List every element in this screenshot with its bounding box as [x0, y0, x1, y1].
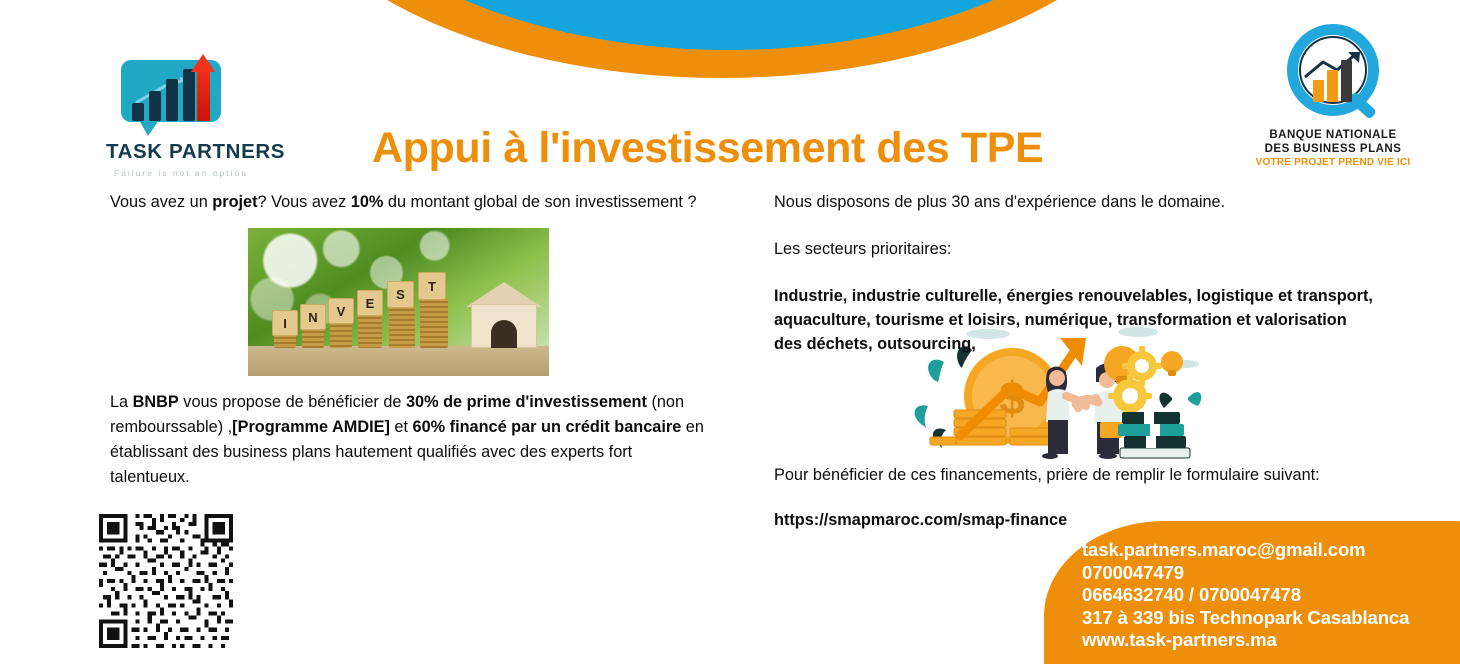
sectors-label: Les secteurs prioritaires: [774, 237, 1374, 262]
right-column: Nous disposons de plus 30 ans d'expérien… [774, 190, 1374, 356]
experience-text: Nous disposons de plus 30 ans d'expérien… [774, 190, 1374, 215]
intro-text-2: ? Vous avez [258, 193, 351, 211]
offer-paragraph-wrap: La BNBP vous propose de bénéficier de 30… [110, 390, 710, 490]
bnbp-line-1: BANQUE NATIONALE [1247, 128, 1419, 142]
qr-code[interactable] [99, 514, 233, 648]
intro-text-1: Vous avez un [110, 193, 212, 211]
flyer-page: TASK PARTNERS Failure is not an option B… [0, 0, 1460, 664]
house-shape [467, 282, 541, 348]
intro-text-3: du montant global de son investissement … [383, 193, 696, 211]
bnbp-logo: BANQUE NATIONALE DES BUSINESS PLANS VOTR… [1247, 24, 1419, 169]
form-url[interactable]: https://smapmaroc.com/smap-finance [774, 508, 1374, 532]
bnbp-line-2: DES BUSINESS PLANS [1247, 142, 1419, 156]
offer-bold-bnbp: BNBP [133, 393, 179, 411]
offer-paragraph: La BNBP vous propose de bénéficier de 30… [110, 390, 710, 490]
offer-text-2: vous propose de bénéficier de [179, 393, 406, 411]
magnifier-bar-chart-icon [1281, 24, 1385, 128]
offer-bold-amdie: [Programme AMDIE] [232, 418, 390, 436]
task-partners-tagline: Failure is not an option [106, 168, 256, 178]
contact-email[interactable]: task.partners.maroc@gmail.com [1082, 539, 1409, 562]
cta-wrap: Pour bénéficier de ces financements, pri… [774, 463, 1374, 532]
invest-photo: I N V E S T [248, 228, 549, 376]
intro-paragraph: Vous avez un projet? Vous avez 10% du mo… [110, 190, 710, 215]
footer-contact: task.partners.maroc@gmail.com 0700047479… [1082, 539, 1409, 652]
bar-chart-growth-icon [121, 52, 241, 134]
sectors-list: Industrie, industrie culturelle, énergie… [774, 284, 1374, 356]
task-partners-name: TASK PARTNERS [106, 140, 256, 164]
page-title: Appui à l'investissement des TPE [372, 124, 1043, 173]
cta-text: Pour bénéficier de ces financements, pri… [774, 463, 1374, 488]
intro-bold-projet: projet [212, 193, 257, 211]
task-partners-logo: TASK PARTNERS Failure is not an option [106, 52, 256, 178]
bnbp-slogan: VOTRE PROJET PREND VIE ICI [1247, 156, 1419, 169]
offer-bold-credit: 60% financé par un crédit bancaire [413, 418, 682, 436]
offer-text-1: La [110, 393, 133, 411]
contact-address: 317 à 339 bis Technopark Casablanca [1082, 607, 1409, 630]
left-column: Vous avez un projet? Vous avez 10% du mo… [110, 190, 710, 215]
person-woman [1042, 366, 1086, 459]
contact-phone-2[interactable]: 0664632740 / 0700047478 [1082, 584, 1409, 607]
offer-text-4: et [390, 418, 413, 436]
intro-bold-percent: 10% [351, 193, 384, 211]
offer-bold-prime: 30% de prime d'investissement [406, 393, 647, 411]
contact-website[interactable]: www.task-partners.ma [1082, 629, 1409, 652]
contact-phone-1[interactable]: 0700047479 [1082, 562, 1409, 585]
